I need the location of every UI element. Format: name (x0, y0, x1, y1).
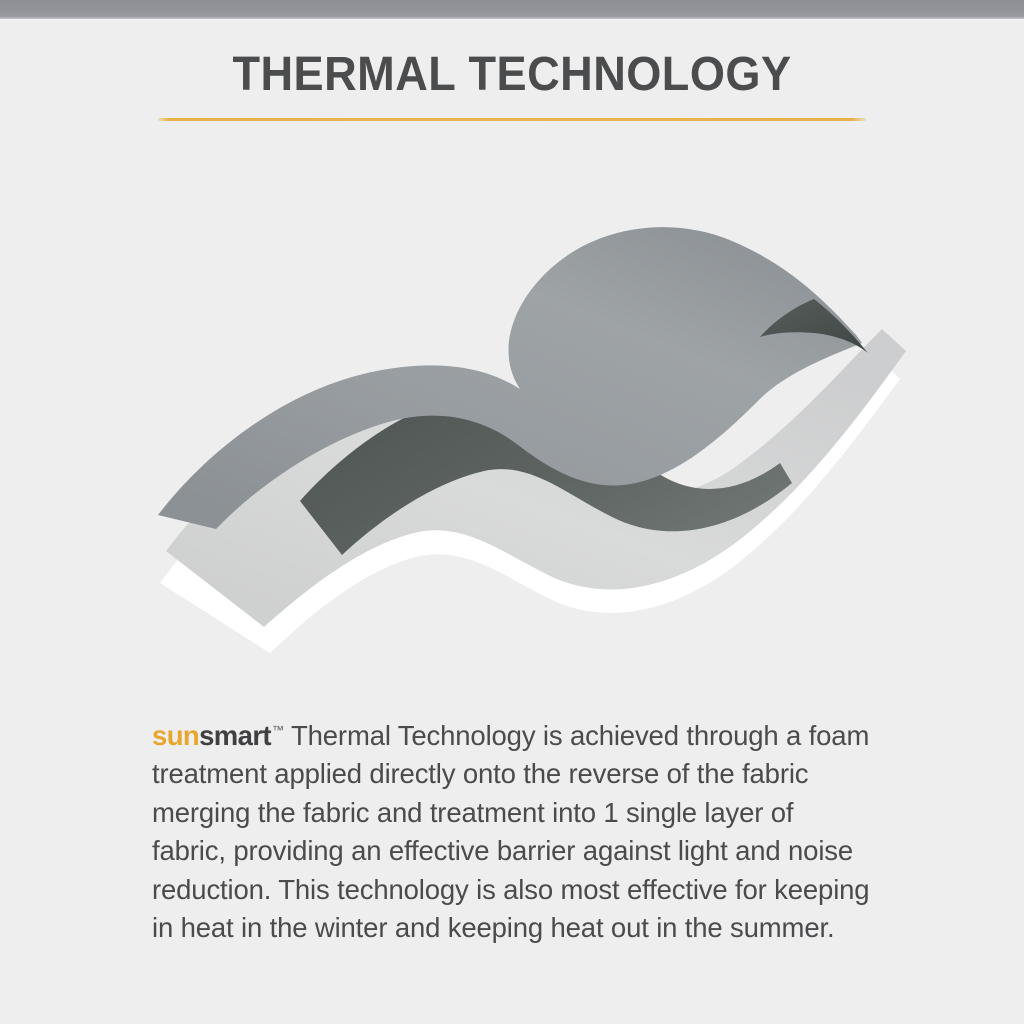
title-divider-rule (158, 118, 866, 121)
page-content: THERMAL TECHNOLOGY (0, 23, 1024, 1024)
top-gray-band (0, 0, 1024, 19)
body-paragraph-text: Thermal Technology is achieved through a… (152, 720, 869, 944)
brand-sun-text: sun (152, 720, 199, 751)
page-header: THERMAL TECHNOLOGY (0, 23, 1024, 133)
body-paragraph: sunsmart™ Thermal Technology is achieved… (152, 711, 874, 948)
page-title: THERMAL TECHNOLOGY (31, 47, 994, 103)
brand-smart-text: smart (199, 720, 271, 751)
trademark-symbol: ™ (272, 723, 284, 737)
fabric-layers-illustration (120, 183, 910, 653)
